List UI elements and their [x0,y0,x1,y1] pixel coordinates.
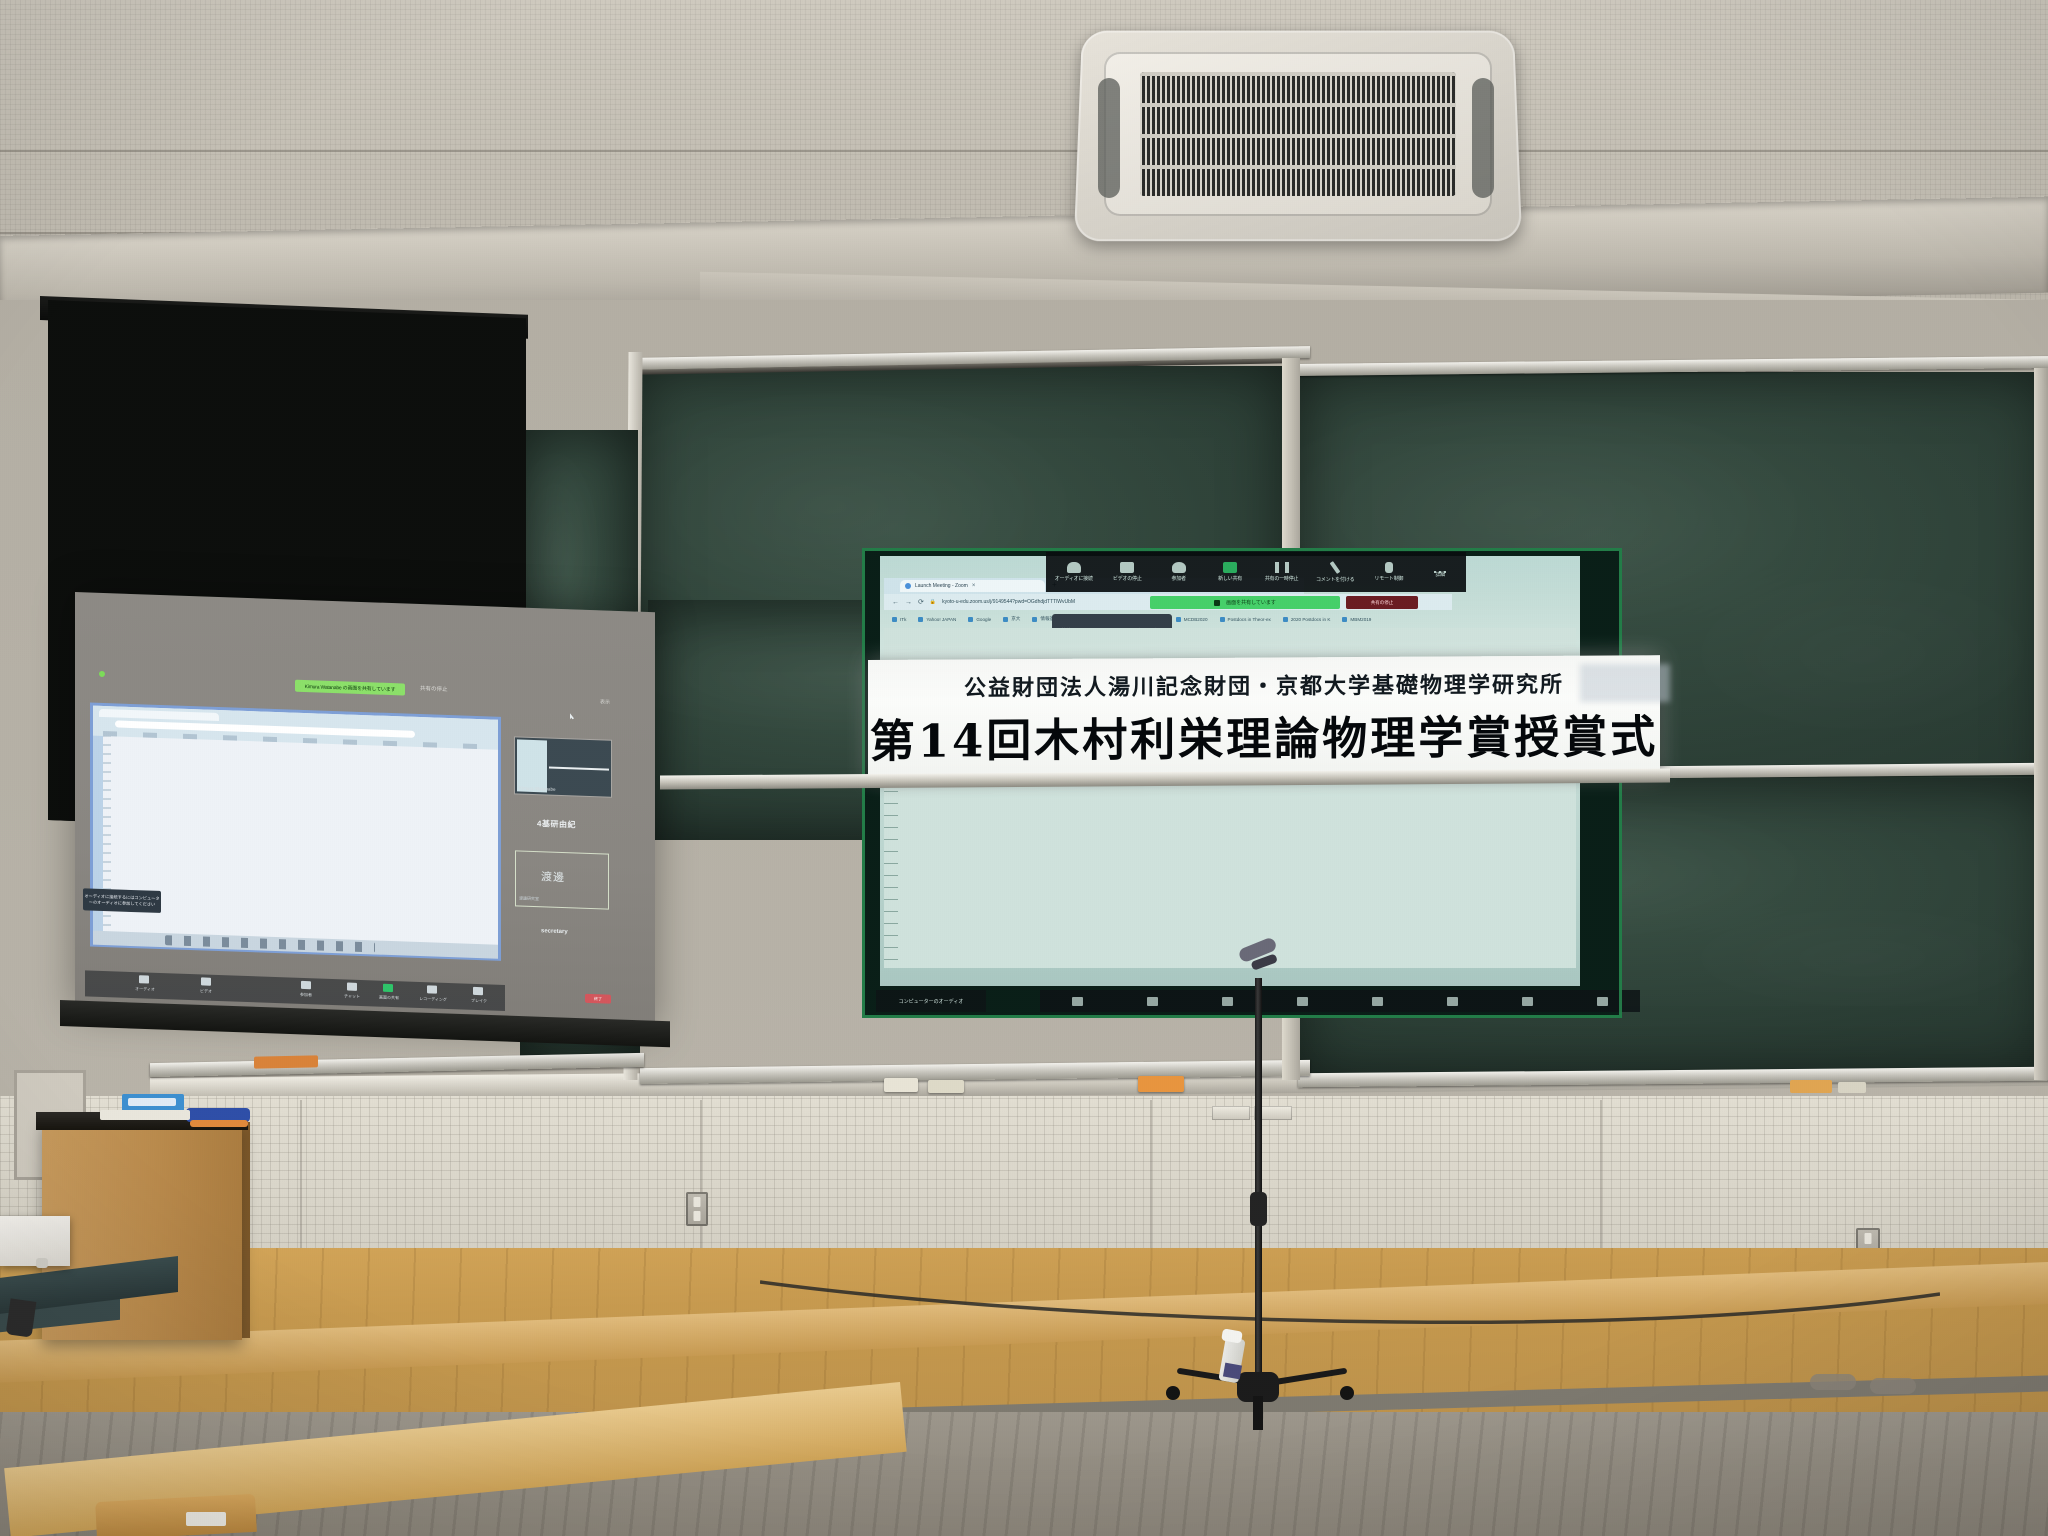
audio-tooltip-text: オーディオに接続するにはコンピューターのオーディオに参加してください [83,893,161,908]
thumbnail-content [517,739,547,792]
mouse-cursor-icon [570,713,574,719]
orange-chalk-box[interactable] [1138,1076,1184,1092]
view-button[interactable]: 表示 [600,698,610,705]
floor-mark [1810,1374,1856,1390]
video-label[interactable]: ビデオ [187,988,225,995]
participants-label[interactable]: 参加者 [287,991,325,998]
audio-tooltip: オーディオに接続するにはコンピューターのオーディオに参加してください [83,888,161,913]
orange-chalk-box[interactable] [254,1055,318,1068]
floor-mark [1870,1378,1916,1394]
shared-doc-ruler [103,736,111,944]
audio-label[interactable]: オーディオ [127,986,163,993]
recording-dot-icon [99,671,105,677]
ceremony-banner: 公益財団法人湯川記念財団・京都大学基礎物理学研究所 第14回木村利栄理論物理学賞… [868,655,1660,780]
breakout-icon[interactable] [473,987,483,995]
microphone-tripod-foot [1166,1386,1180,1400]
microphone-tripod-foot [1340,1386,1354,1400]
shared-browser-chrome [93,706,498,750]
share-status-bar: Kimura Watanabe の画面を共有しています [295,680,405,696]
blackboard-eraser[interactable] [1838,1082,1866,1093]
chair[interactable] [95,1494,257,1536]
wall-outlet[interactable] [686,1192,708,1226]
wall-vent-icon [1212,1106,1250,1120]
banner-organization-line: 公益財団法人湯川記念財団・京都大学基礎物理学研究所 [964,666,1564,702]
blackboard-eraser[interactable] [928,1080,964,1093]
air-conditioner-grille [1140,72,1456,196]
participant-name: 渡邊 [541,868,565,885]
share-status-text: Kimura Watanabe の画面を共有しています [305,683,396,693]
projector-lens-icon [36,1258,48,1268]
chat-icon[interactable] [347,982,357,990]
participant-role: secretary [541,928,568,935]
camera-icon[interactable] [201,977,211,985]
banner-title-line: 第14回木村利栄理論物理学賞授賞式 [870,700,1659,770]
participant-name-sub: 渡邊研究室 [519,896,539,903]
share-screen-icon[interactable] [383,984,393,992]
record-icon[interactable] [427,985,437,993]
participant-group-label: 4基研由紀 [537,818,576,830]
stop-share-button[interactable]: 共有の停止 [420,684,448,693]
podium-item-marker-orange[interactable] [190,1120,248,1127]
microphone-stand-clutch[interactable] [1250,1192,1267,1226]
water-bottle-label [1223,1363,1242,1380]
microphone-tripod-stem [1253,1396,1263,1430]
board-frame-right [2034,368,2048,1080]
participants-icon[interactable] [301,981,311,989]
shared-screen-area [93,706,498,958]
headset-icon[interactable] [139,975,149,983]
leave-meeting-button[interactable]: 終了 [585,994,611,1004]
leave-meeting-label: 終了 [594,996,602,1002]
ceiling-seam [0,150,2048,152]
air-conditioner-vane-left [1098,78,1120,198]
podium-item-label [128,1098,176,1106]
lecture-hall-photo: Kimura Watanabe の画面を共有しています 共有の停止 表示 オーデ… [0,0,2048,1536]
projector-stand-leg [6,1298,37,1337]
thumbnail-line [549,767,609,771]
banner-glare [1580,664,1670,702]
shared-browser-tab [99,709,219,721]
chat-label[interactable]: チャット [333,993,371,1000]
air-conditioner-vane-right [1472,78,1494,198]
floor-power-cable [760,1272,1940,1332]
left-projection-screen: Kimura Watanabe の画面を共有しています 共有の停止 表示 オーデ… [75,592,655,1032]
blackboard-eraser[interactable] [884,1078,918,1092]
shared-browser-bookmarks [103,731,483,749]
projector-device [0,1216,70,1266]
chair-tag [186,1512,226,1526]
orange-chalk-box[interactable] [1790,1080,1832,1093]
podium-item-paper[interactable] [100,1110,190,1120]
